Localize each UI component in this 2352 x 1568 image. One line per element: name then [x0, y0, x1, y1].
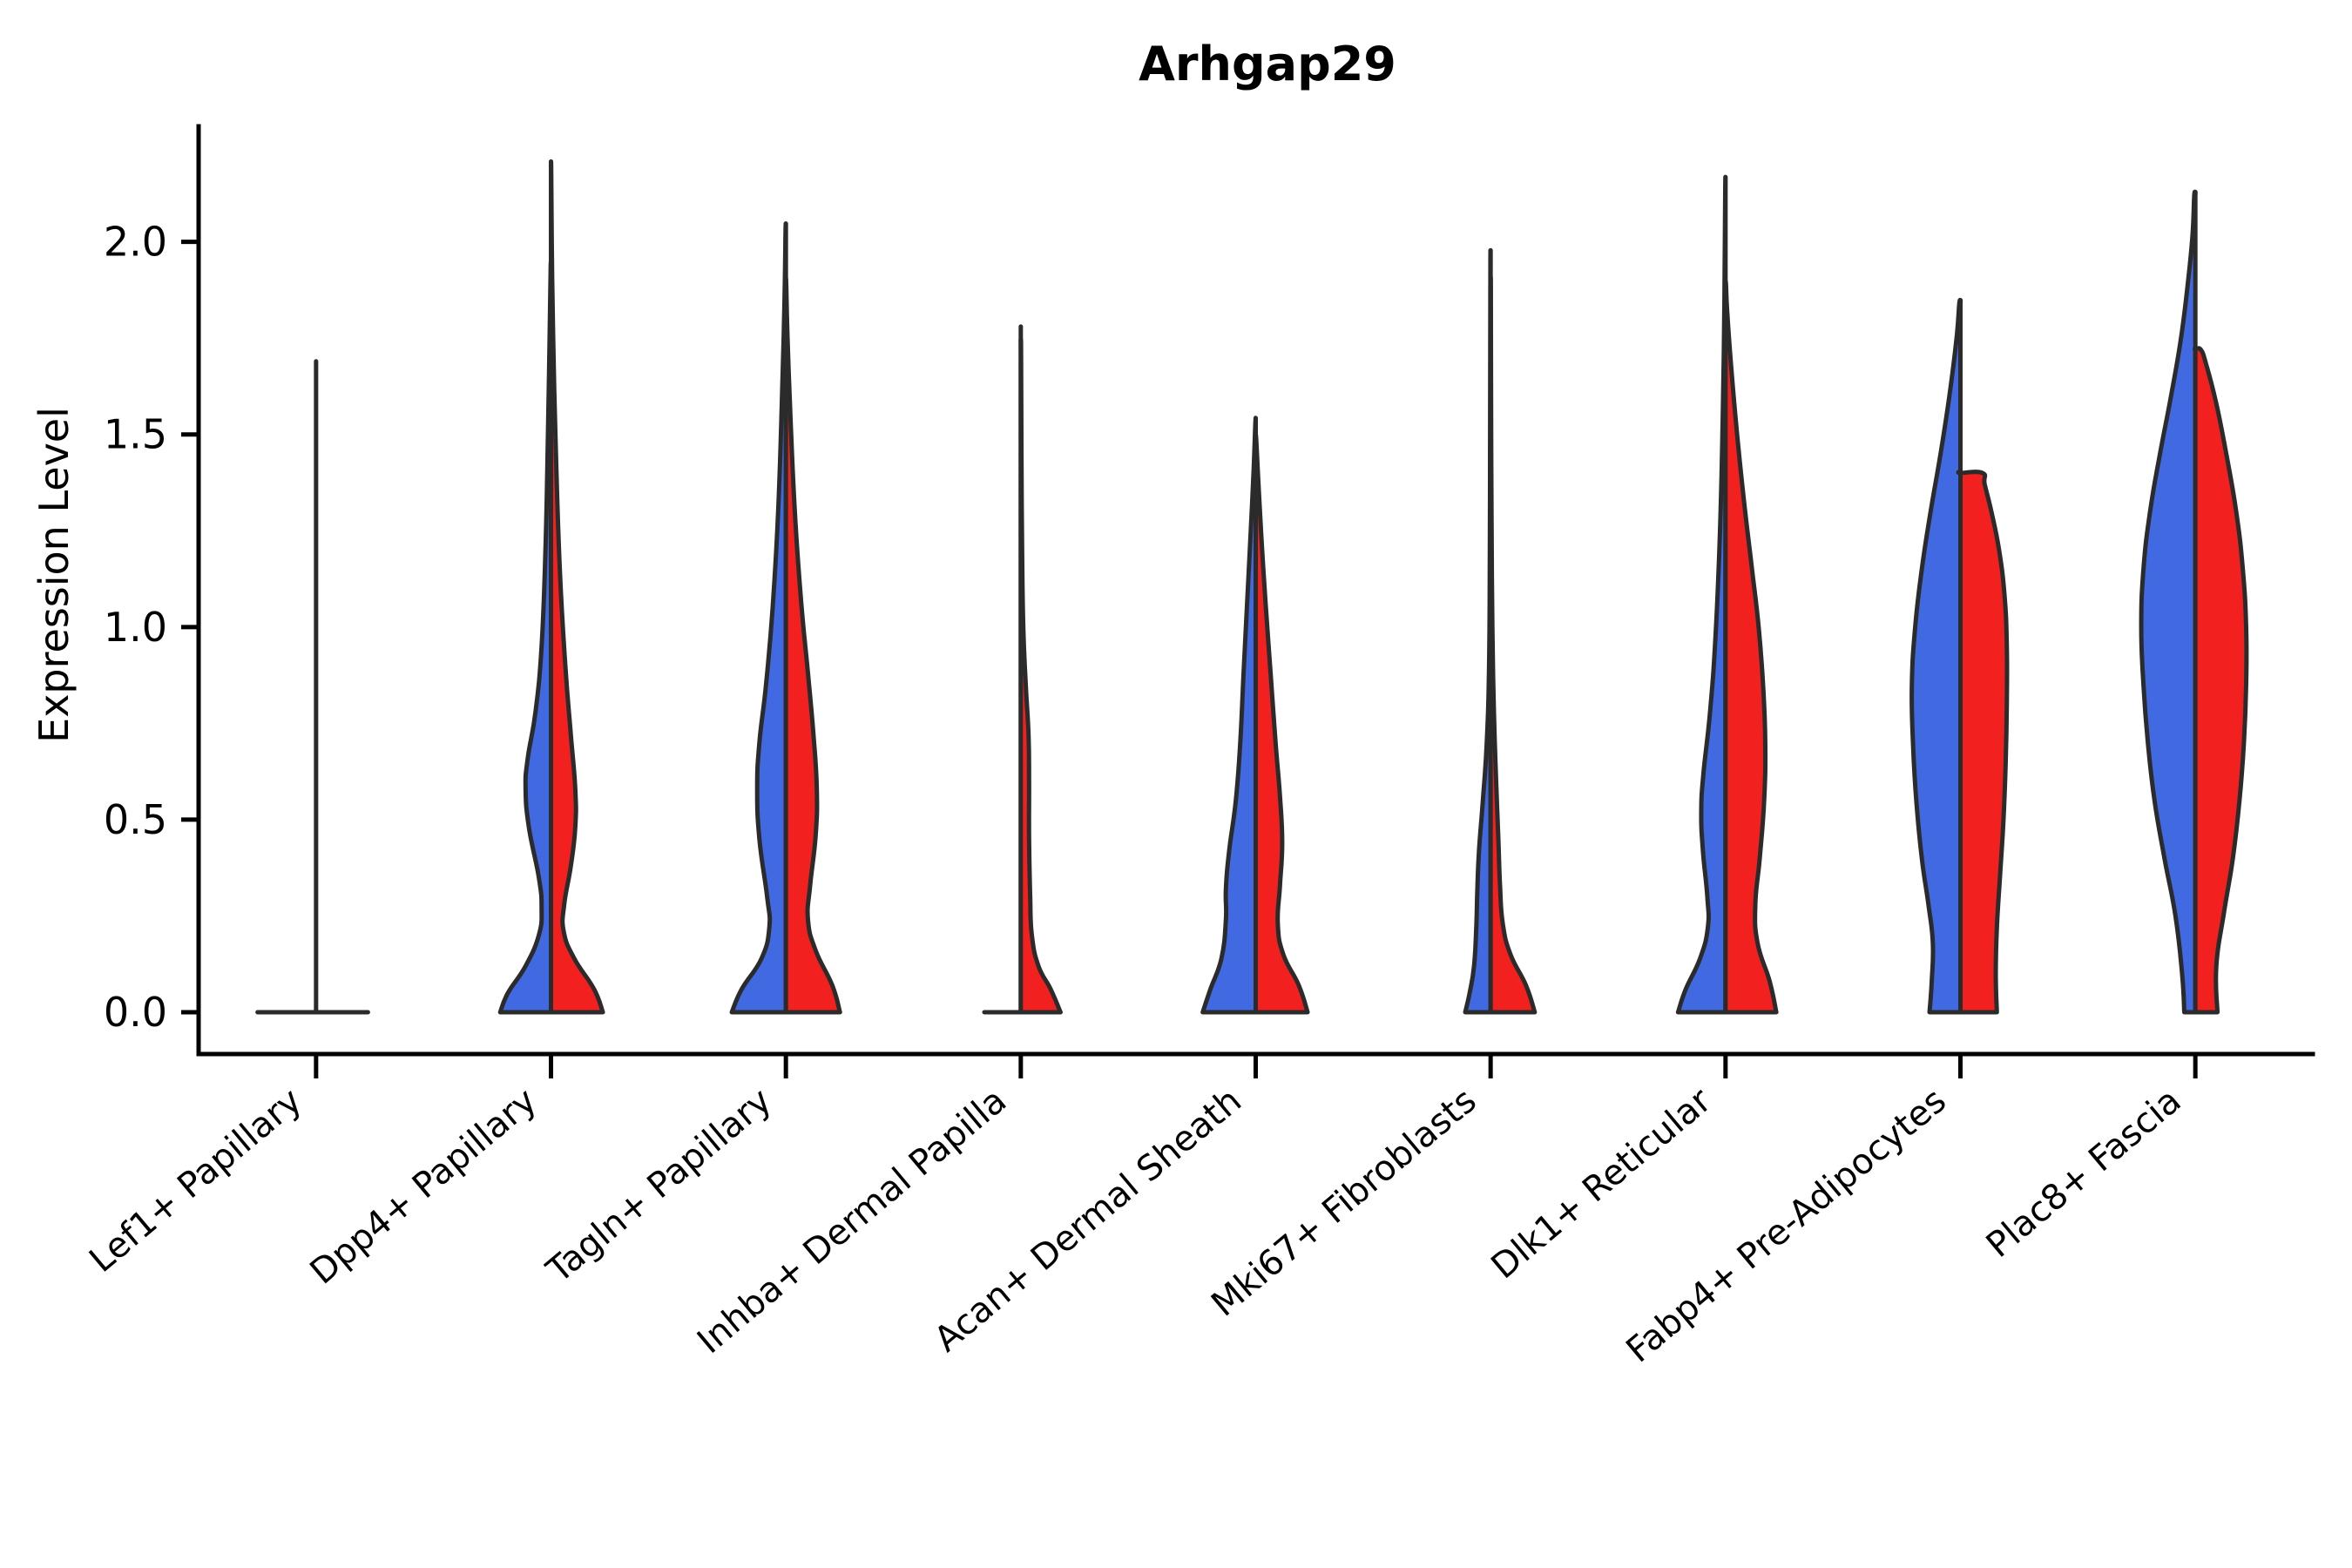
- y-axis-label: Expression Level: [30, 407, 78, 743]
- violin-plot-figure: Arhgap29 Expression Level 0.00.51.01.52.…: [0, 0, 2352, 1568]
- violin-plot-canvas: Arhgap29 Expression Level 0.00.51.01.52.…: [0, 0, 2352, 1568]
- y-tick-label: 1.0: [104, 604, 167, 651]
- y-tick-label: 0.0: [104, 989, 167, 1036]
- y-tick-label: 1.5: [104, 411, 167, 458]
- page-title: Arhgap29: [1139, 37, 1396, 91]
- y-tick-label: 2.0: [104, 219, 167, 266]
- y-tick-label: 0.5: [104, 796, 167, 843]
